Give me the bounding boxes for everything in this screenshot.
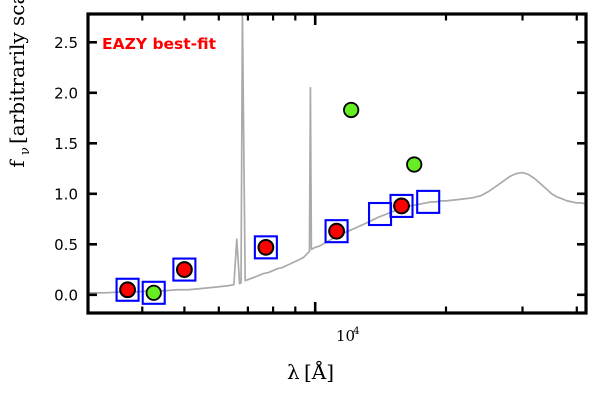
y-axis-ticks	[88, 42, 586, 295]
plot-frame	[88, 14, 586, 313]
x-tick-exponent: 4	[353, 325, 360, 337]
y-tick-label: 2.5	[54, 34, 78, 52]
x-axis-ticks	[88, 14, 577, 313]
observed-photometry-point	[120, 282, 135, 297]
outlier-photometry-point	[147, 286, 161, 300]
y-axis-tick-labels: 0.00.51.01.52.02.5	[54, 34, 78, 305]
y-axis-title-nu: ν	[18, 147, 33, 155]
outlier-photometry-point	[344, 103, 358, 117]
y-axis-title-f: f	[5, 159, 29, 168]
x-axis-title-lambda: λ	[287, 360, 300, 384]
y-axis-title-rest: [arbitrarily scaled]	[5, 0, 29, 144]
x-axis-title-units: [Å]	[304, 359, 334, 384]
axis-frame-group	[88, 14, 586, 313]
sed-plot: 0.00.51.01.52.02.5 EAZY best-fit 10 4 λ …	[0, 0, 600, 400]
observed-photometry-point	[329, 224, 344, 239]
eazy-best-fit-annotation: EAZY best-fit	[102, 35, 217, 53]
y-tick-label: 0.5	[54, 236, 78, 254]
best-fit-spectrum-line	[88, 14, 586, 293]
model-photometry-squares	[117, 191, 440, 304]
y-tick-label: 1.5	[54, 135, 78, 153]
x-axis-title: λ [Å]	[287, 359, 334, 384]
figure-root: 0.00.51.01.52.02.5 EAZY best-fit 10 4 λ …	[0, 0, 600, 400]
y-tick-label: 1.0	[54, 185, 78, 203]
x-axis-major-tick-label: 10 4	[336, 325, 360, 345]
outlier-photometry-point	[407, 157, 421, 171]
spectrum-curve-group	[88, 14, 586, 293]
y-tick-label: 2.0	[54, 84, 78, 102]
y-tick-label: 0.0	[54, 286, 78, 304]
observed-photometry-point	[177, 262, 192, 277]
observed-photometry-point	[258, 240, 273, 255]
observed-photometry-point	[394, 199, 409, 214]
y-axis-title: f ν [arbitrarily scaled]	[5, 0, 33, 168]
